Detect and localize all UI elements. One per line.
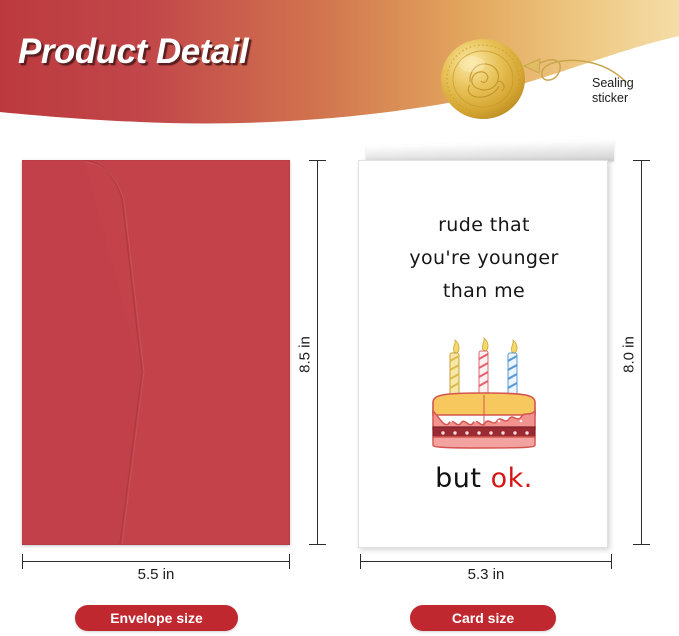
card-height-dimension: 8.0 in xyxy=(629,160,655,545)
dimension-line xyxy=(641,160,642,545)
sealing-sticker-label: Sealing sticker xyxy=(592,76,672,106)
envelope-image xyxy=(22,160,290,545)
card-punchline: but ok. xyxy=(359,463,609,494)
card-height-label: 8.0 in xyxy=(619,319,640,389)
card-punchline-red: ok. xyxy=(491,463,533,494)
dimension-tick-bottom xyxy=(633,544,650,545)
dimension-line xyxy=(360,561,612,562)
card-message-line2: you're younger xyxy=(359,242,609,275)
product-detail-page: Product Detail xyxy=(0,0,679,636)
page-title: Product Detail xyxy=(18,32,248,72)
sealing-sticker-line2: sticker xyxy=(592,91,672,106)
envelope-size-button[interactable]: Envelope size xyxy=(75,605,238,631)
envelope-width-dimension: 5.5 in xyxy=(22,561,290,587)
dimension-tick-top xyxy=(309,160,326,161)
envelope-height-label: 8.5 in xyxy=(295,319,316,389)
card-front-panel: rude that you're younger than me xyxy=(358,160,608,548)
birthday-cake-icon xyxy=(421,331,547,449)
card-message: rude that you're younger than me xyxy=(359,209,609,308)
dimension-line xyxy=(317,160,318,545)
card-size-button[interactable]: Card size xyxy=(410,605,556,631)
greeting-card-image: rude that you're younger than me xyxy=(358,146,614,548)
envelope-width-label: 5.5 in xyxy=(22,566,290,583)
card-message-line1: rude that xyxy=(359,209,609,242)
dimension-tick-top xyxy=(633,160,650,161)
card-width-dimension: 5.3 in xyxy=(360,561,612,587)
dimension-tick-bottom xyxy=(309,544,326,545)
card-width-label: 5.3 in xyxy=(360,566,612,583)
card-punchline-black: but xyxy=(435,463,490,494)
sealing-sticker-line1: Sealing xyxy=(592,76,672,91)
dimension-line xyxy=(22,561,290,562)
envelope-height-dimension: 8.5 in xyxy=(305,160,331,545)
card-message-line3: than me xyxy=(359,275,609,308)
gold-rose-seal-icon xyxy=(440,38,526,120)
